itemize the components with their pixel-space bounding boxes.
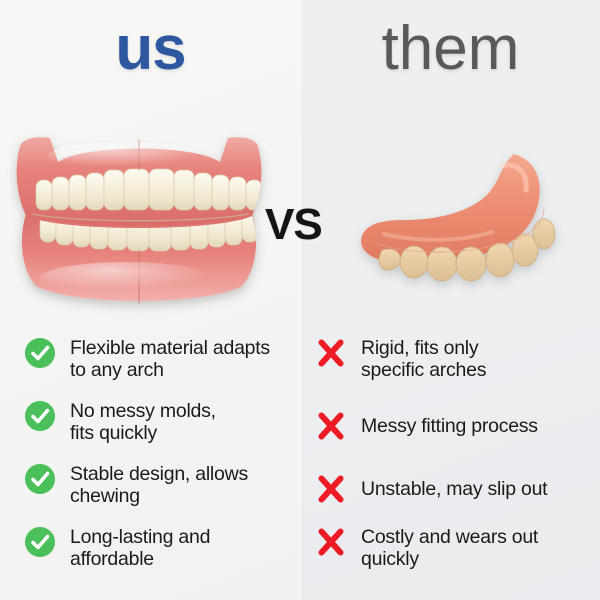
list-item: Costly and wears out quickly — [315, 525, 595, 579]
cons-item-text: Messy fitting process — [361, 414, 538, 437]
list-item: Long-lasting and affordable — [24, 525, 296, 579]
check-circle-icon — [24, 526, 56, 558]
cons-item-text: Costly and wears out quickly — [361, 525, 538, 570]
check-circle-icon — [24, 337, 56, 369]
list-item: Unstable, may slip out — [315, 462, 595, 516]
pros-list: Flexible material adapts to any arch No … — [24, 336, 296, 588]
red-x-icon — [315, 410, 347, 442]
pros-item-text: Flexible material adapts to any arch — [70, 336, 270, 381]
red-x-icon — [315, 337, 347, 369]
single-arch-denture-image — [352, 138, 580, 313]
comparison-infographic: us them VS — [0, 0, 600, 600]
list-item: No messy molds, fits quickly — [24, 399, 296, 453]
pros-item-text: Stable design, allows chewing — [70, 462, 248, 507]
list-item: Messy fitting process — [315, 399, 595, 453]
heading-us: us — [0, 18, 301, 80]
heading-them: them — [301, 18, 600, 80]
cons-item-text: Unstable, may slip out — [361, 477, 547, 500]
list-item: Stable design, allows chewing — [24, 462, 296, 516]
list-item: Rigid, fits only specific arches — [315, 336, 595, 390]
full-denture-set-image — [6, 128, 272, 318]
pros-item-text: No messy molds, fits quickly — [70, 399, 216, 444]
cons-item-text: Rigid, fits only specific arches — [361, 336, 486, 381]
check-circle-icon — [24, 400, 56, 432]
check-circle-icon — [24, 463, 56, 495]
versus-badge: VS — [265, 200, 322, 250]
red-x-icon — [315, 526, 347, 558]
panel-divider — [299, 0, 302, 600]
pros-item-text: Long-lasting and affordable — [70, 525, 210, 570]
cons-list: Rigid, fits only specific arches Messy f… — [315, 336, 595, 588]
list-item: Flexible material adapts to any arch — [24, 336, 296, 390]
red-x-icon — [315, 473, 347, 505]
